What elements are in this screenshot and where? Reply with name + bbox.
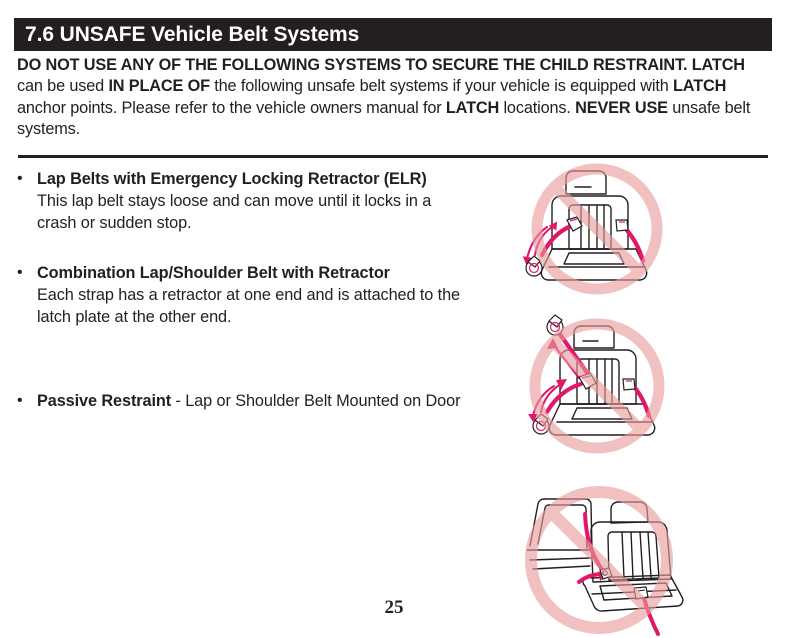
manual-page: 7.6 UNSAFE Vehicle Belt Systems DO NOT U… — [0, 0, 788, 638]
list-item-body: - Lap or Shoulder Belt Mounted on Door — [171, 392, 460, 410]
illustration-lap-shoulder-belt-retractor — [497, 308, 697, 458]
no-symbol-car-seat-shoulder-belt-icon — [497, 308, 697, 458]
list-item-body: Each strap has a retractor at one end an… — [37, 286, 460, 326]
intro-segment-9: NEVER USE — [575, 99, 668, 117]
section-title: 7.6 UNSAFE Vehicle Belt Systems — [25, 23, 359, 47]
list-item-text: Passive Restraint - Lap or Shoulder Belt… — [37, 390, 474, 412]
horizontal-divider — [18, 155, 768, 158]
intro-segment-7: LATCH — [446, 99, 499, 117]
intro-segment-5: LATCH — [673, 77, 726, 95]
illustration-lap-belt-elr — [497, 163, 697, 295]
page-number: 25 — [0, 597, 788, 619]
intro-segment-4: the following unsafe belt systems if you… — [210, 77, 673, 95]
intro-segment-1: DO NOT USE ANY OF THE FOLLOWING SYSTEMS … — [17, 56, 745, 74]
list-item-heading: Lap Belts with Emergency Locking Retract… — [37, 170, 427, 188]
section-header-bar: 7.6 UNSAFE Vehicle Belt Systems — [14, 18, 772, 51]
list-item-heading: Passive Restraint — [37, 392, 171, 410]
intro-segment-2: can be used — [17, 77, 108, 95]
list-item: • Combination Lap/Shoulder Belt with Ret… — [14, 262, 474, 329]
list-item-heading: Combination Lap/Shoulder Belt with Retra… — [37, 264, 390, 282]
intro-segment-3: IN PLACE OF — [108, 77, 209, 95]
bullet-marker: • — [17, 390, 23, 412]
bullet-marker: • — [17, 262, 23, 284]
list-item: • Passive Restraint - Lap or Shoulder Be… — [14, 390, 474, 412]
list-item-text: Combination Lap/Shoulder Belt with Retra… — [37, 262, 474, 329]
bullet-marker: • — [17, 168, 23, 190]
list-item: • Lap Belts with Emergency Locking Retra… — [14, 168, 474, 235]
intro-paragraph: DO NOT USE ANY OF THE FOLLOWING SYSTEMS … — [17, 55, 773, 140]
intro-segment-6: anchor points. Please refer to the vehic… — [17, 99, 446, 117]
list-item-body: This lap belt stays loose and can move u… — [37, 192, 431, 232]
intro-segment-8: locations. — [499, 99, 575, 117]
unsafe-belt-systems-list: • Lap Belts with Emergency Locking Retra… — [14, 168, 474, 412]
list-item-text: Lap Belts with Emergency Locking Retract… — [37, 168, 474, 235]
no-symbol-car-seat-lap-belt-icon — [497, 163, 697, 295]
